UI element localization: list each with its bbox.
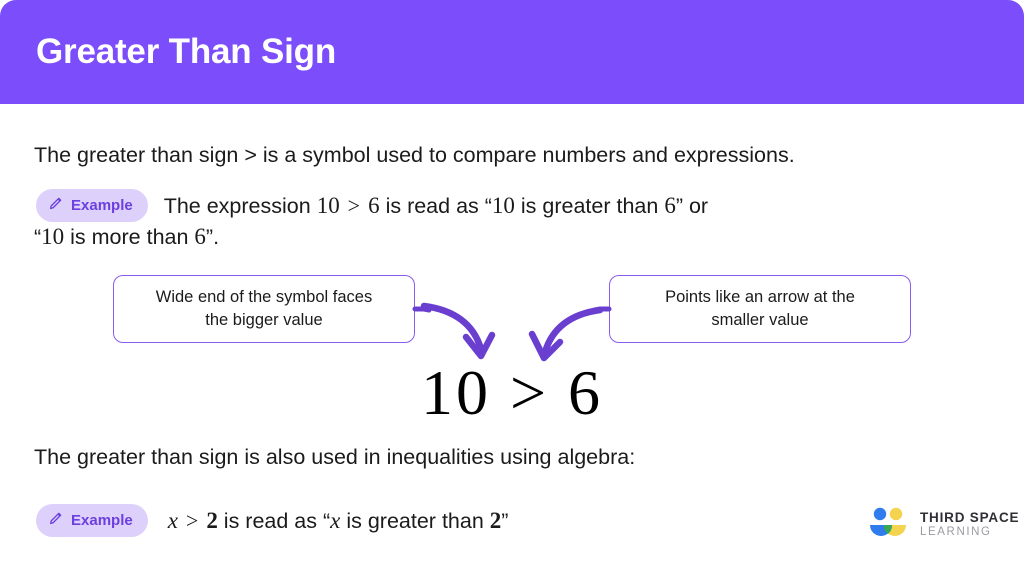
big-expression-operator: > — [510, 357, 549, 428]
example-2-line: x > 2 is read as “x is greater than 2” — [168, 508, 509, 534]
callout-wide-end: Wide end of the symbol faces the bigger … — [113, 275, 415, 343]
logo-line-2: LEARNING — [920, 526, 1019, 538]
algebra-paragraph: The greater than sign is also used in in… — [34, 442, 635, 472]
example-1-math-six: 6 — [368, 193, 380, 218]
third-space-mark-icon — [866, 506, 910, 543]
example-1-text-part-4: ” or — [676, 194, 708, 218]
example-1-line2-ten: 10 — [41, 224, 64, 249]
pencil-icon — [48, 510, 64, 531]
callout-left-line-1: Wide end of the symbol faces — [156, 288, 372, 306]
pencil-icon — [48, 195, 64, 216]
right-arrow-curve — [545, 310, 600, 352]
lesson-body: The greater than sign > is a symbol used… — [0, 104, 1024, 581]
intro-paragraph: The greater than sign > is a symbol used… — [34, 140, 795, 170]
logo-line-1: THIRD SPACE — [920, 511, 1019, 525]
brand-logo: THIRD SPACE LEARNING — [866, 506, 1019, 543]
example-badge-2-label: Example — [71, 513, 133, 528]
example-2-end-quote: ” — [501, 509, 508, 533]
example-1-math-ten: 10 — [317, 193, 340, 218]
example-1-quoted-ten: 10 — [492, 193, 515, 218]
big-expression-left: 10 — [421, 357, 491, 428]
right-arrow-head — [532, 334, 560, 358]
example-1-text-part-1: The expression — [164, 194, 311, 218]
right-connector-line — [595, 309, 609, 310]
example-1-text-part-2: is read as “ — [386, 194, 492, 218]
example-2-tail-text: is greater than — [340, 509, 489, 533]
lesson-card: Greater Than Sign The greater than sign … — [0, 0, 1024, 581]
example-1-line2-six: 6 — [194, 224, 206, 249]
example-row-1: Example The expression 10 > 6 is read as… — [36, 189, 708, 222]
example-2-math-var: x — [168, 508, 178, 533]
example-2-math-var-2: x — [330, 508, 340, 533]
callout-left-line-2: the bigger value — [205, 311, 322, 329]
example-1-math-operator: > — [346, 193, 362, 218]
left-connector-line — [415, 309, 429, 310]
example-1-text-part-3: is greater than — [515, 194, 664, 218]
callout-right-line-2: smaller value — [711, 311, 808, 329]
example-1-line-2: “10 is more than 6”. — [34, 224, 219, 250]
logo-wordmark: THIRD SPACE LEARNING — [920, 511, 1019, 537]
callout-right-line-1: Points like an arrow at the — [665, 288, 855, 306]
example-row-2: Example x > 2 is read as “x is greater t… — [36, 504, 508, 537]
big-expression-right: 6 — [568, 357, 603, 428]
example-badge-1-label: Example — [71, 198, 133, 213]
example-2-mid-text: is read as “ — [224, 509, 330, 533]
example-2-math-num-2: 2 — [490, 508, 502, 533]
example-2-math-operator: > — [184, 508, 200, 533]
header-bar: Greater Than Sign — [0, 0, 1024, 104]
example-2-math-num: 2 — [206, 508, 218, 533]
example-badge-1: Example — [36, 189, 148, 222]
example-1-line-1: The expression 10 > 6 is read as “10 is … — [164, 193, 708, 219]
left-arrow-head — [466, 335, 492, 356]
callout-points-arrow: Points like an arrow at the smaller valu… — [609, 275, 911, 343]
example-1-quoted-six: 6 — [664, 193, 676, 218]
big-expression: 10 > 6 — [0, 356, 1024, 430]
page-title: Greater Than Sign — [36, 32, 336, 72]
example-badge-2: Example — [36, 504, 148, 537]
left-arrow-curve — [424, 306, 481, 349]
example-1-line2-mid: is more than — [64, 225, 194, 249]
example-1-line2-close: ”. — [206, 225, 219, 249]
